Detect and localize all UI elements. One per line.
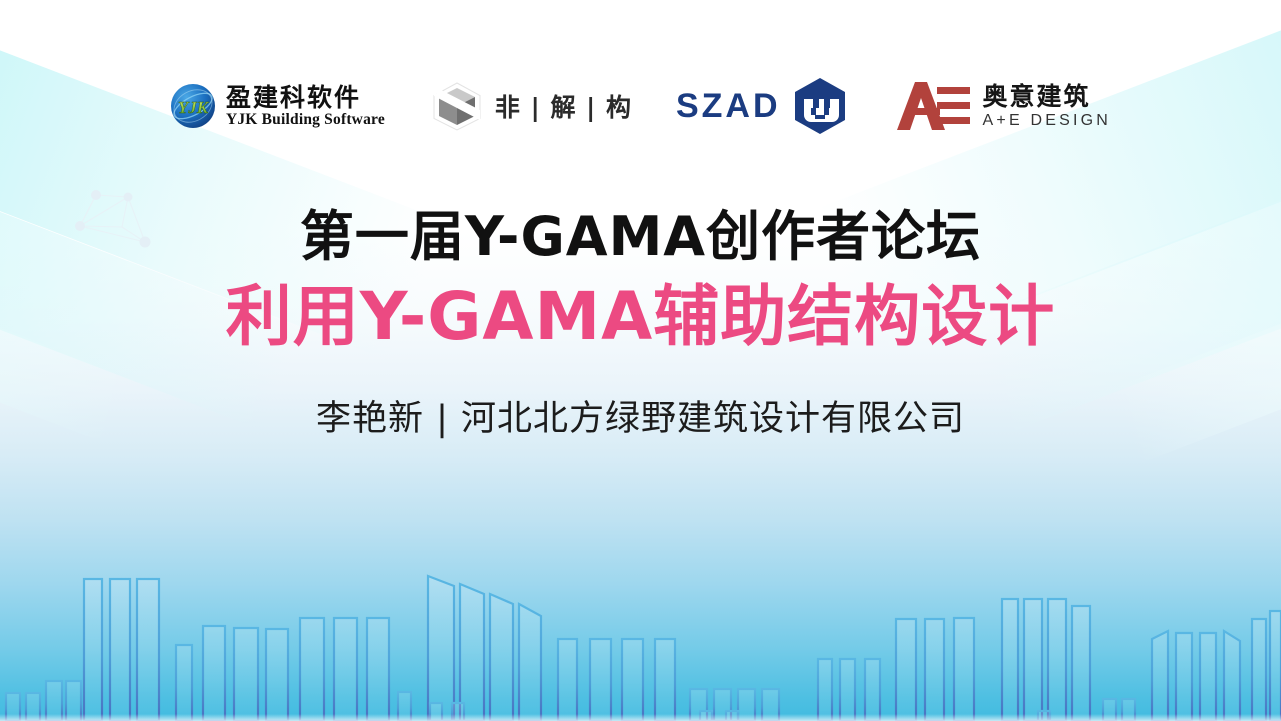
deconstructed-cube-icon (429, 80, 485, 132)
logo-yjk: YJK 盈建科软件 YJK Building Software (170, 83, 385, 129)
logo-yjk-cn-label: 盈建科软件 (226, 85, 385, 110)
logo-ae-en-label: A+E DESIGN (983, 113, 1111, 129)
szad-hexagon-icon (791, 77, 849, 135)
logo-ae-cn-label: 奥意建筑 (983, 84, 1111, 109)
bottom-edge-highlight (0, 714, 1281, 721)
logo-szad-label: SZAD (676, 87, 781, 126)
yjk-globe-icon: YJK (170, 83, 216, 129)
city-skyline-silhouette (0, 521, 1281, 721)
logo-ae-design: 奥意建筑 A+E DESIGN (893, 80, 1111, 132)
presenter-line: 李艳新 | 河北北方绿野建筑设计有限公司 (0, 390, 1281, 441)
logo-szad: SZAD (676, 77, 849, 135)
presentation-slide: YJK 盈建科软件 YJK Building Software 非 | 解 | … (0, 0, 1281, 721)
partner-logo-bar: YJK 盈建科软件 YJK Building Software 非 | 解 | … (0, 66, 1281, 146)
slide-title-sub: 利用Y-GAMA辅助结构设计 (0, 277, 1281, 356)
slide-title-main: 第一届Y-GAMA创作者论坛 (0, 205, 1281, 269)
logo-feijiegou-label: 非 | 解 | 构 (495, 88, 632, 124)
ae-monogram-icon (893, 80, 973, 132)
svg-text:YJK: YJK (178, 98, 210, 117)
title-block: 第一届Y-GAMA创作者论坛 利用Y-GAMA辅助结构设计 李艳新 | 河北北方… (0, 205, 1281, 441)
logo-feijiegou: 非 | 解 | 构 (429, 80, 632, 132)
logo-yjk-en-label: YJK Building Software (226, 112, 385, 128)
